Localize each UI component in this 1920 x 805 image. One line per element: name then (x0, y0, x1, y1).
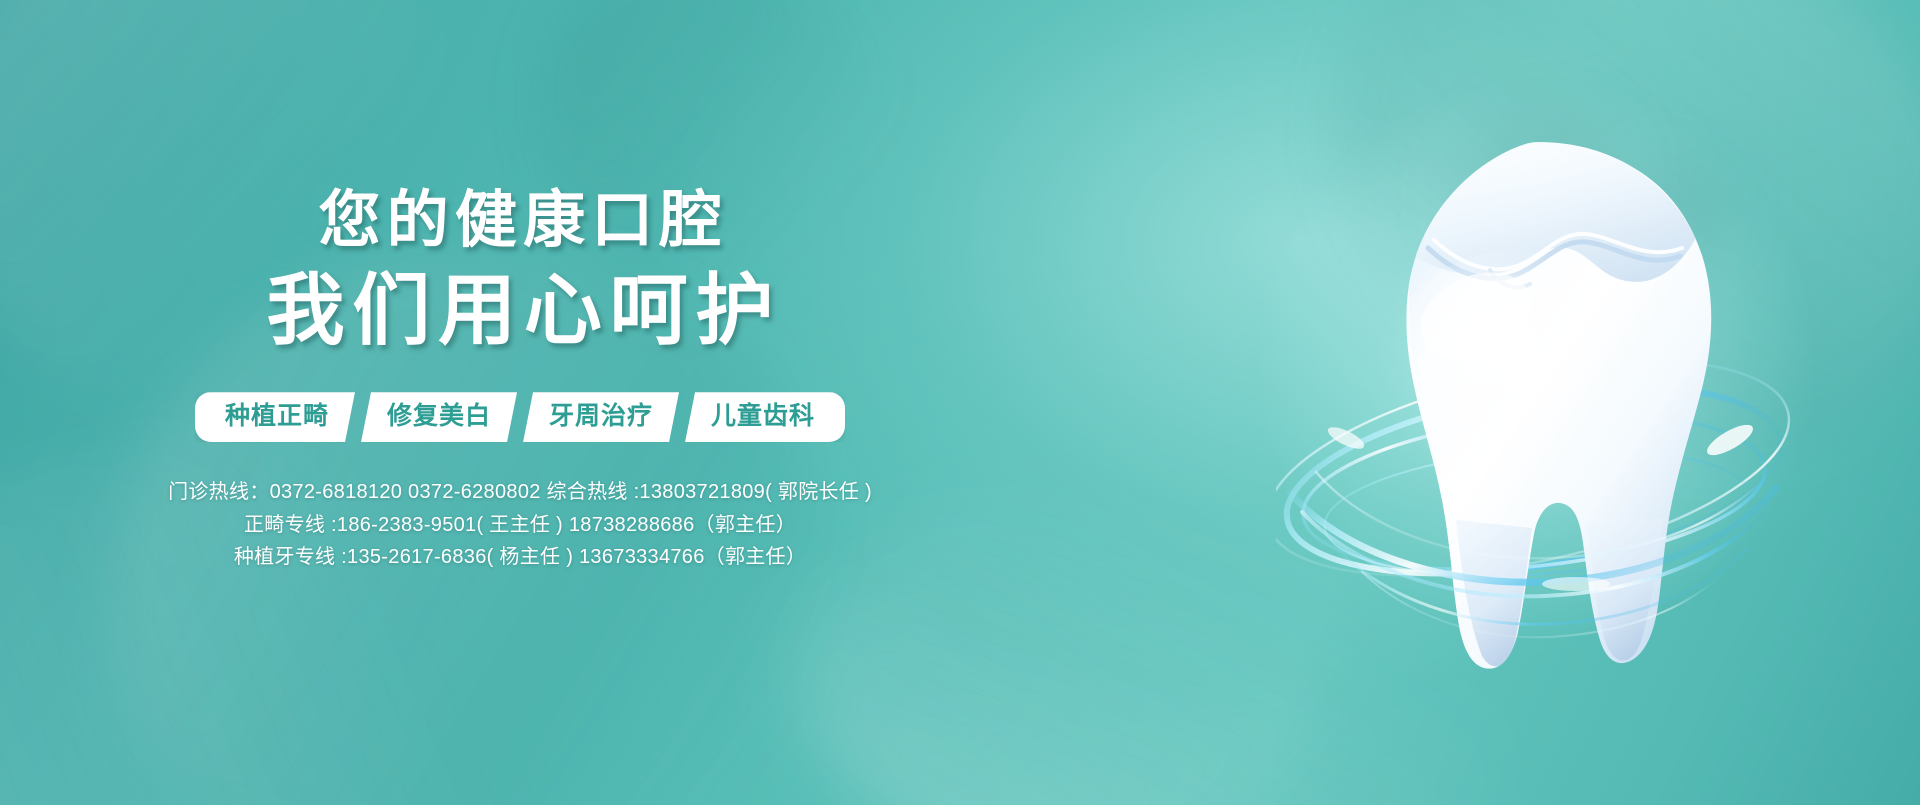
contact-line-orthodontics-hotline: 正畸专线 :186-2383-9501( 王主任 ) 18738288686（郭… (0, 509, 1040, 541)
headline-line-2: 我们用心呵护 (0, 268, 1040, 352)
contact-line-clinic-hotline: 门诊热线：0372-6818120 0372-6280802 综合热线 :138… (0, 476, 1040, 508)
service-tag-implant-orthodontics[interactable]: 种植正畸 (195, 392, 355, 442)
headline-line-1: 您的健康口腔 (0, 190, 1040, 252)
dental-clinic-banner: 您的健康口腔 我们用心呵护 种植正畸 修复美白 牙周治疗 儿童齿科 门诊热线：0… (0, 0, 1920, 805)
service-tag-periodontal-treatment[interactable]: 牙周治疗 (523, 392, 679, 442)
tooth-graphic (1276, 120, 1796, 690)
service-tag-list: 种植正畸 修复美白 牙周治疗 儿童齿科 (0, 392, 1040, 442)
banner-copy-block: 您的健康口腔 我们用心呵护 种植正畸 修复美白 牙周治疗 儿童齿科 门诊热线：0… (0, 190, 1040, 573)
tooth-illustration (1276, 120, 1796, 690)
contact-info-block: 门诊热线：0372-6818120 0372-6280802 综合热线 :138… (0, 476, 1040, 573)
contact-line-implant-hotline: 种植牙专线 :135-2617-6836( 杨主任 ) 13673334766（… (0, 541, 1040, 573)
service-tag-pediatric-dentistry[interactable]: 儿童齿科 (685, 392, 845, 442)
service-tag-restoration-whitening[interactable]: 修复美白 (361, 392, 517, 442)
